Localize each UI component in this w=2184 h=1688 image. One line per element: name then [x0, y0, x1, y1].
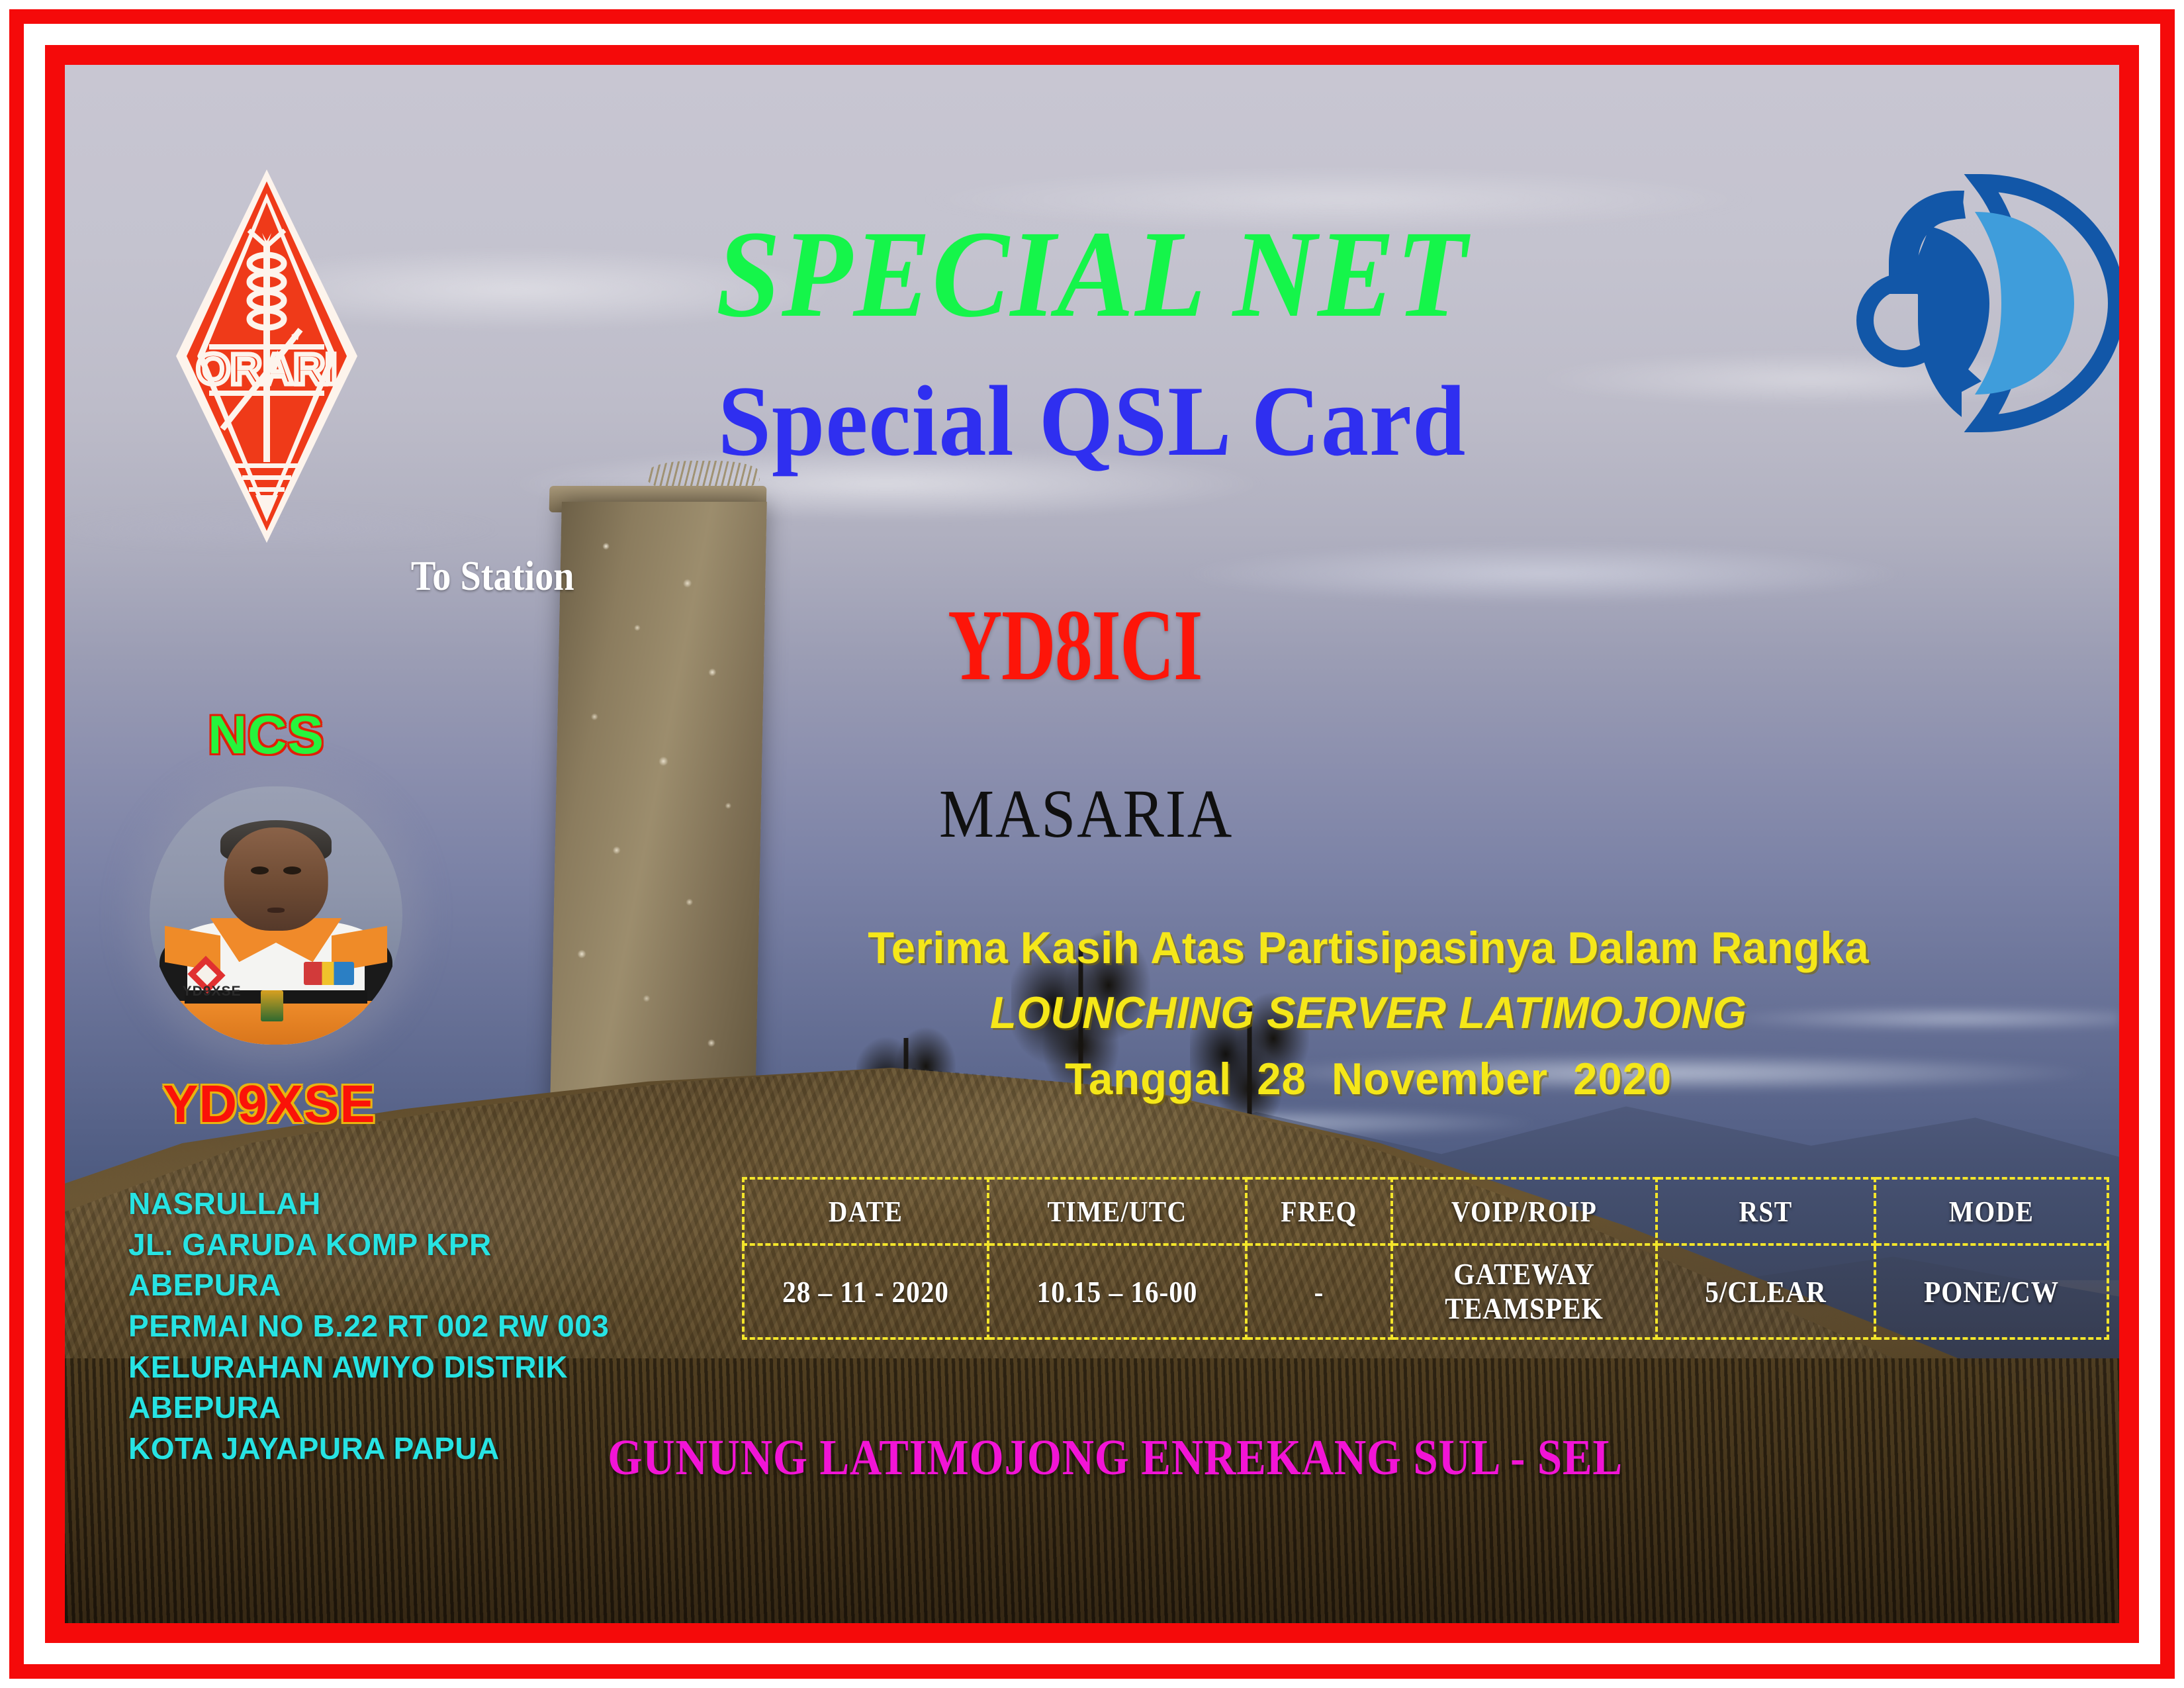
recipient-callsign: YD8ICI	[315, 594, 1835, 696]
footer-website: Address : amatir.latimojong.com	[1322, 1638, 1933, 1643]
address-line: PERMAI NO B.22 RT 002 RW 003	[128, 1306, 609, 1347]
cell-voip-roip-line1: GATEWAY	[1406, 1257, 1642, 1291]
title-special-net: SPECIAL NET	[137, 212, 2048, 336]
column-header-freq: FREQ	[1253, 1178, 1385, 1244]
cell-freq: -	[1253, 1244, 1385, 1338]
cell-mode: PONE/CW	[1887, 1244, 2097, 1338]
inner-red-border: ORARI	[45, 45, 2139, 1643]
text-layer: SPECIAL NET Special QSL Card To Station …	[65, 65, 2119, 1623]
qso-log-table: DATE TIME/UTC FREQ VOIP/ROIP RST MODE 28…	[742, 1177, 2109, 1340]
event-name: LOUNCHING SERVER LATIMOJONG	[106, 990, 2078, 1035]
footer-motto: "AMATIR RADIO ADALAH PROGRESIVE"	[143, 1638, 995, 1643]
column-header-voip-roip: VOIP/ROIP	[1405, 1178, 1643, 1244]
location-line: GUNUNG LATIMOJONG ENREKANG SUL - SEL	[211, 1432, 2019, 1483]
address-line: KELURAHAN AWIYO DISTRIK	[128, 1347, 609, 1388]
address-line: JL. GARUDA KOMP KPR	[128, 1225, 609, 1266]
cell-voip-roip-line2: TEAMSPEK	[1406, 1291, 1642, 1326]
recipient-address-block: NASRULLAH JL. GARUDA KOMP KPR ABEPURA PE…	[128, 1184, 609, 1469]
table-header-row: DATE TIME/UTC FREQ VOIP/ROIP RST MODE	[743, 1178, 2108, 1244]
address-line: NASRULLAH	[128, 1184, 609, 1225]
column-header-rst: RST	[1668, 1178, 1864, 1244]
column-header-time-utc: TIME/UTC	[1001, 1178, 1234, 1244]
to-station-label: To Station	[411, 555, 574, 597]
title-special-qsl-card: Special QSL Card	[116, 371, 2068, 471]
address-line: ABEPURA	[128, 1265, 609, 1306]
table-row: 28 – 11 - 2020 10.15 – 16-00 - GATEWAY T…	[743, 1244, 2108, 1338]
event-date: Tanggal 28 November 2020	[106, 1056, 2078, 1102]
column-header-date: DATE	[756, 1178, 976, 1244]
event-thanks-line: Terima Kasih Atas Partisipasinya Dalam R…	[106, 925, 2078, 970]
qsl-card: ORARI	[0, 0, 2184, 1688]
recipient-station-name: MASARIA	[161, 780, 2011, 849]
column-header-mode: MODE	[1887, 1178, 2097, 1244]
cell-voip-roip: GATEWAY TEAMSPEK	[1405, 1244, 1643, 1338]
cell-time-utc: 10.15 – 16-00	[1001, 1244, 1234, 1338]
address-line: ABEPURA	[128, 1387, 609, 1429]
ncs-label: NCS	[208, 708, 324, 763]
cell-date: 28 – 11 - 2020	[756, 1244, 976, 1338]
cell-rst: 5/CLEAR	[1668, 1244, 1864, 1338]
